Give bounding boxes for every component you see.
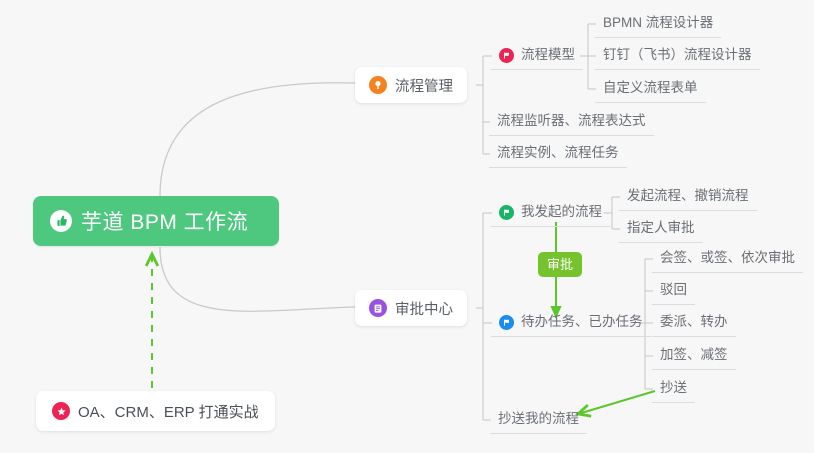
item-assigned-approval[interactable]: 指定人审批 (619, 217, 703, 243)
item-start-cancel-process-label: 发起流程、撤销流程 (627, 188, 749, 203)
item-liucheng-moxing[interactable]: 流程模型 (491, 44, 583, 70)
item-dingding-designer[interactable]: 钉钉（飞书）流程设计器 (595, 44, 760, 70)
item-bpmn-designer-label: BPMN 流程设计器 (603, 15, 713, 30)
node-shenpi-zhongxin-label: 审批中心 (395, 298, 453, 319)
item-dingding-designer-label: 钉钉（飞书）流程设计器 (603, 47, 752, 62)
badge-shenpi[interactable]: 审批 (538, 252, 582, 277)
item-chaosong-label: 抄送 (660, 380, 687, 395)
clipboard-icon (369, 299, 387, 317)
node-oa-crm-erp-label: OA、CRM、ERP 打通实战 (78, 401, 259, 422)
node-shenpi-zhongxin[interactable]: 审批中心 (355, 290, 467, 326)
node-oa-crm-erp[interactable]: OA、CRM、ERP 打通实战 (36, 391, 275, 431)
lightbulb-pin-icon (369, 76, 387, 94)
item-liucheng-jianting[interactable]: 流程监听器、流程表达式 (489, 110, 654, 136)
item-chaosong[interactable]: 抄送 (652, 377, 695, 403)
item-my-started-process[interactable]: 我发起的流程 (491, 201, 610, 227)
item-cc-my-process[interactable]: 抄送我的流程 (490, 408, 587, 434)
item-jiaqian-jianqian-label: 加签、减签 (660, 347, 728, 362)
item-custom-form-label: 自定义流程表单 (603, 80, 698, 95)
item-bohui[interactable]: 驳回 (652, 279, 695, 305)
item-huiqian-huoqian-label: 会签、或签、依次审批 (660, 250, 795, 265)
item-todo-done-tasks[interactable]: 待办任务、已办任务 (491, 311, 651, 337)
item-start-cancel-process[interactable]: 发起流程、撤销流程 (619, 185, 757, 211)
flag-icon (499, 315, 514, 330)
flag-icon (499, 205, 514, 220)
thumbs-up-icon (50, 210, 72, 232)
edge-root-to-shenpi-zhongxin (160, 247, 355, 311)
item-liucheng-shili[interactable]: 流程实例、流程任务 (489, 142, 627, 168)
star-icon (52, 402, 70, 420)
item-bohui-label: 驳回 (660, 282, 687, 297)
item-jiaqian-jianqian[interactable]: 加签、减签 (652, 344, 736, 370)
item-huiqian-huoqian[interactable]: 会签、或签、依次审批 (652, 247, 803, 273)
item-cc-my-process-label: 抄送我的流程 (498, 411, 579, 426)
item-liucheng-jianting-label: 流程监听器、流程表达式 (497, 113, 646, 128)
item-liucheng-shili-label: 流程实例、流程任务 (497, 145, 619, 160)
mindmap-canvas: 芋道 BPM 工作流 流程管理 审批中心 (0, 0, 814, 453)
item-my-started-process-label: 我发起的流程 (521, 203, 602, 221)
item-todo-done-tasks-label: 待办任务、已办任务 (521, 313, 643, 331)
root-label: 芋道 BPM 工作流 (81, 206, 248, 236)
node-liucheng-guanli[interactable]: 流程管理 (355, 67, 467, 103)
item-assigned-approval-label: 指定人审批 (627, 220, 695, 235)
flag-icon (499, 48, 514, 63)
arrow-chaosong-to-chaosong-my (578, 391, 655, 414)
root-node[interactable]: 芋道 BPM 工作流 (33, 196, 279, 246)
item-weipai-zhuanban[interactable]: 委派、转办 (652, 311, 736, 337)
item-custom-form[interactable]: 自定义流程表单 (595, 77, 706, 103)
item-weipai-zhuanban-label: 委派、转办 (660, 314, 728, 329)
node-liucheng-guanli-label: 流程管理 (395, 75, 453, 96)
edge-root-to-liucheng-guanli (160, 83, 355, 196)
item-bpmn-designer[interactable]: BPMN 流程设计器 (595, 12, 721, 38)
item-liucheng-moxing-label: 流程模型 (521, 46, 575, 64)
badge-shenpi-label: 审批 (547, 257, 573, 272)
